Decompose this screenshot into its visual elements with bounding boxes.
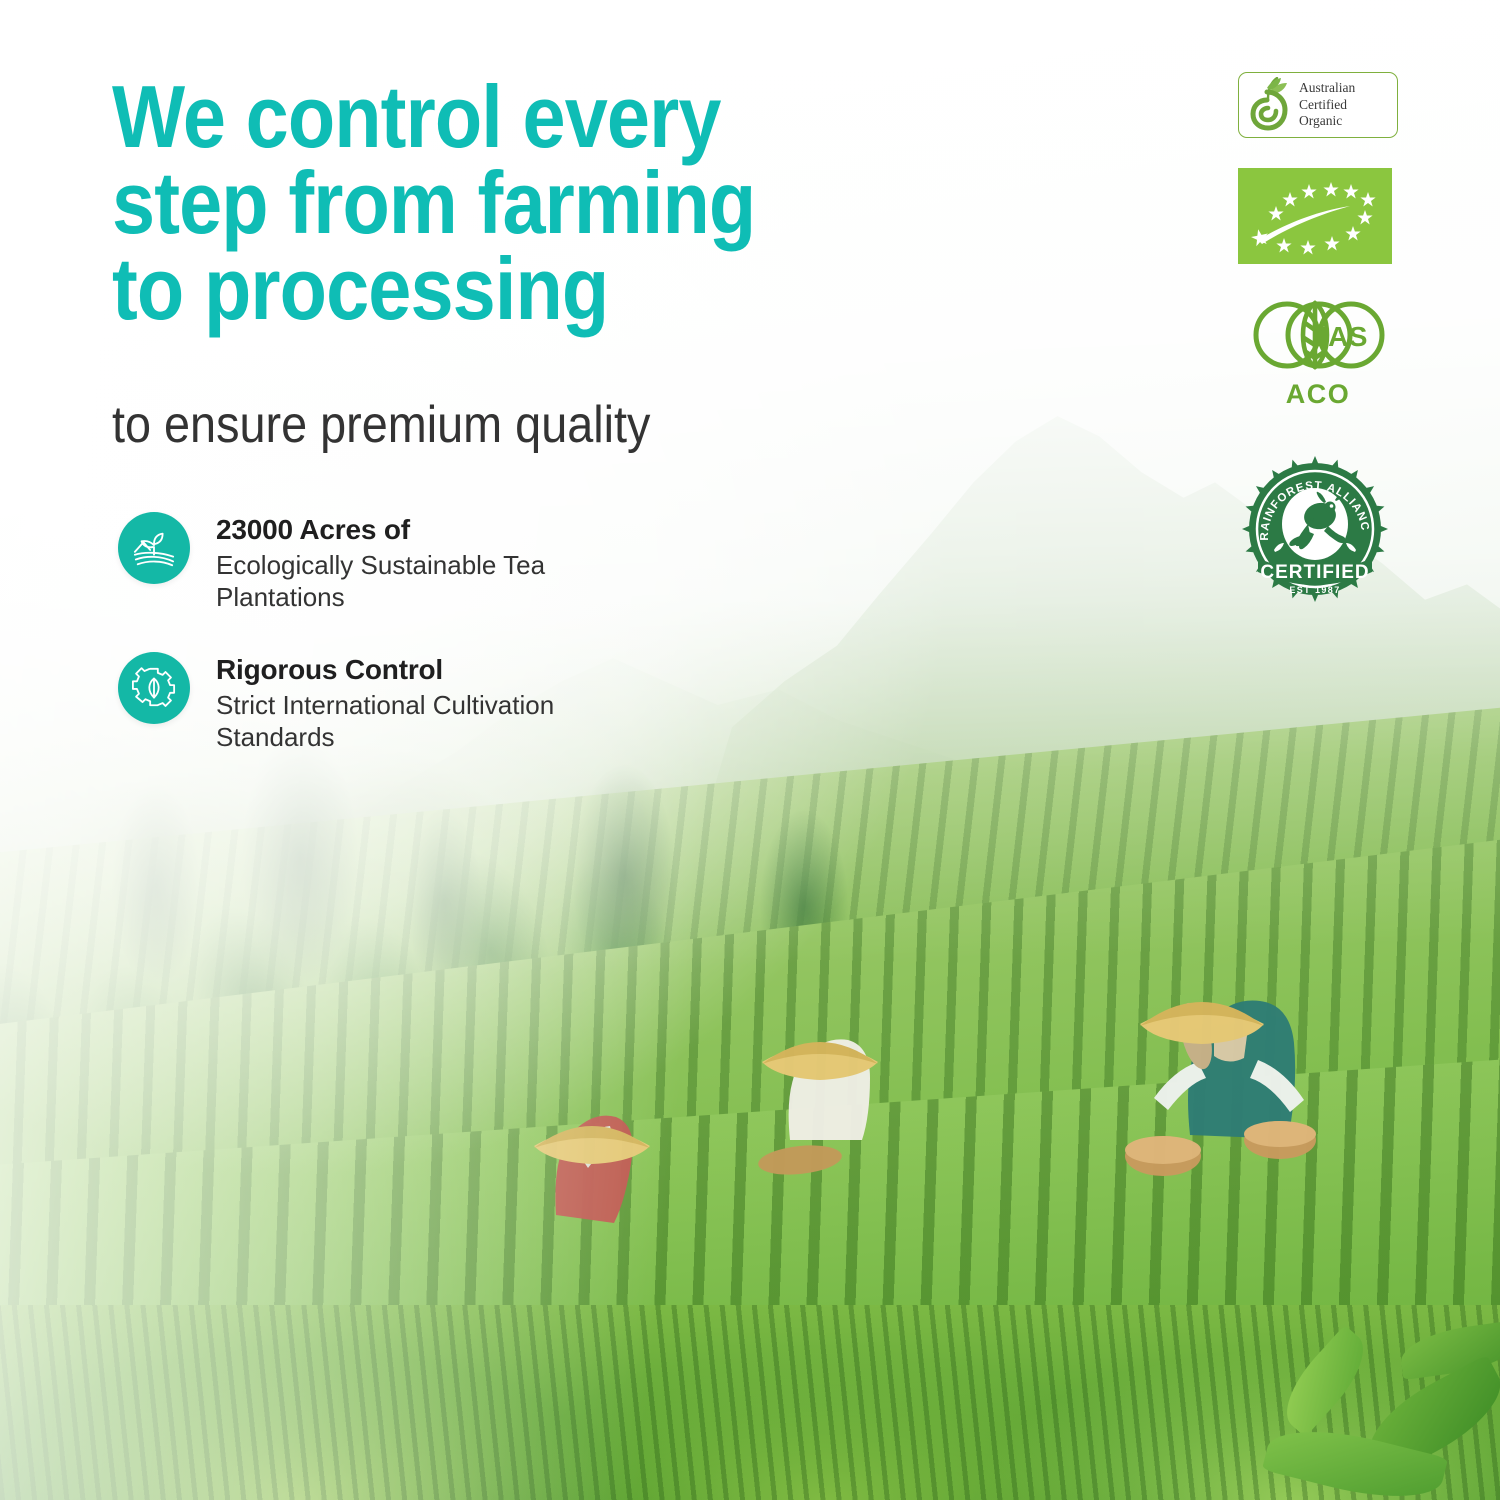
feature-description: Strict International Cultivation Standar… xyxy=(216,690,636,753)
eu-organic-badge xyxy=(1238,168,1392,264)
certification-badges: Australian Certified Organic xyxy=(1238,72,1408,609)
trademark-text: TM xyxy=(1307,518,1314,524)
feature-title: 23000 Acres of xyxy=(216,514,636,546)
banner-label: CERTIFIED xyxy=(1260,562,1369,583)
australian-certified-organic-badge: Australian Certified Organic xyxy=(1238,72,1398,138)
organic-spiral-leaf-icon xyxy=(1247,77,1293,133)
aco-line-1: Australian xyxy=(1299,80,1355,96)
aco-caption: ACO xyxy=(1238,379,1398,410)
rainforest-alliance-frog-seal-icon: TM RAINFOREST ALLIANCE CERTIFIED EST 198… xyxy=(1240,454,1390,604)
headline: We control every step from farming to pr… xyxy=(112,74,816,333)
aco-line-2: Certified xyxy=(1299,97,1355,113)
headline-line-3: to processing xyxy=(112,246,816,332)
promo-poster: We control every step from farming to pr… xyxy=(0,0,1500,1500)
jas-mark-text: JAS xyxy=(1312,321,1368,352)
est-label: EST 1987 xyxy=(1289,585,1340,595)
feature-item: Rigorous Control Strict International Cu… xyxy=(118,652,738,754)
aco-line-3: Organic xyxy=(1299,113,1355,129)
feature-description: Ecologically Sustainable Tea Plantations xyxy=(216,550,636,613)
headline-line-1: We control every xyxy=(112,74,816,160)
jas-organic-badge: JAS ACO xyxy=(1238,298,1398,410)
feature-item: 23000 Acres of Ecologically Sustainable … xyxy=(118,512,738,614)
subheading: to ensure premium quality xyxy=(112,398,850,453)
feature-title: Rigorous Control xyxy=(216,654,636,686)
eu-stars-leaf-icon xyxy=(1238,168,1392,264)
tea-field-sprout-icon xyxy=(118,512,190,584)
rainforest-alliance-badge: TM RAINFOREST ALLIANCE CERTIFIED EST 198… xyxy=(1240,454,1390,609)
jas-leaf-circles-icon: JAS xyxy=(1243,298,1393,372)
headline-line-2: step from farming xyxy=(112,160,816,246)
gear-leaf-icon xyxy=(118,652,190,724)
feature-list: 23000 Acres of Ecologically Sustainable … xyxy=(118,512,738,791)
